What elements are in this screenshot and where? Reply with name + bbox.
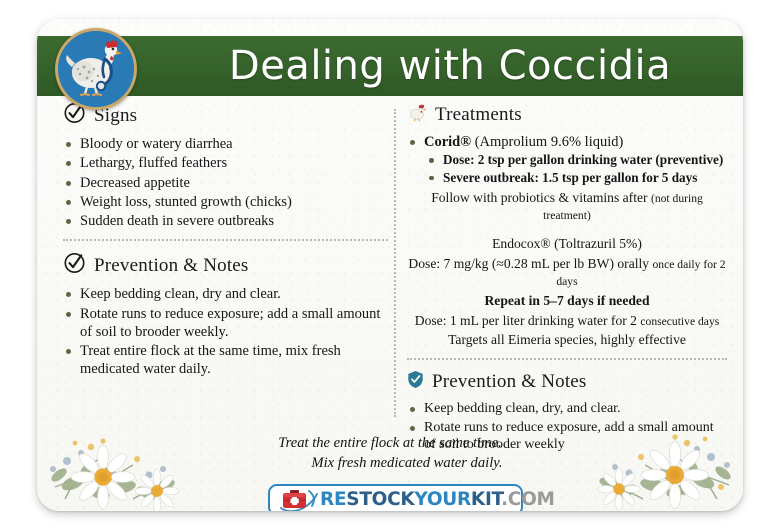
- right-column: Treatments Corid® (Amprolium 9.6% liquid…: [407, 101, 727, 455]
- left-prevention-heading: Prevention & Notes: [63, 251, 388, 279]
- list-item: Treat entire flock at the same time, mix…: [63, 342, 388, 379]
- circled-check-icon: [63, 251, 86, 279]
- treatments-heading: Treatments: [407, 101, 727, 127]
- list-item: Keep bedding clean, dry and clear.: [63, 285, 388, 303]
- first-aid-kit-icon: [279, 487, 319, 511]
- endocox-dose2-small: consecutive days: [640, 315, 719, 328]
- list-item: Decreased appetite: [63, 174, 388, 192]
- list-item: Lethargy, fluffed feathers: [63, 154, 388, 172]
- logo-part-com: .COM: [501, 489, 555, 510]
- restockyourkit-logo[interactable]: RESTOCKYOURKIT.COM: [268, 484, 523, 511]
- right-prevention-title: Prevention & Notes: [432, 372, 587, 391]
- left-column: Signs Bloody or watery diarrhea Lethargy…: [63, 101, 388, 380]
- logo-part-stock: STOCK: [346, 489, 414, 510]
- treatments-list: Corid® (Amprolium 9.6% liquid): [407, 133, 727, 151]
- endocox-targets-line: Targets all Eimeria species, highly effe…: [407, 331, 727, 349]
- poster-stage: Dealing with Coccidia: [0, 0, 780, 529]
- page-title: Dealing with Coccidia: [109, 46, 671, 86]
- list-item: Sudden death in severe outbreaks: [63, 212, 388, 230]
- treatments-title: Treatments: [435, 105, 522, 124]
- right-prevention-heading: Prevention & Notes: [407, 370, 727, 394]
- column-divider: [394, 109, 396, 417]
- left-section-divider: [63, 239, 388, 241]
- shield-check-icon: [407, 370, 424, 394]
- endocox-dose2-line: Dose: 1 mL per liter drinking water for …: [407, 312, 727, 330]
- corid-dose-list: Dose: 2 tsp per gallon drinking water (p…: [426, 152, 727, 186]
- endocox-dose2-main: Dose: 1 mL per liter drinking water for …: [415, 313, 641, 328]
- follow-up-line: Follow with probiotics & vitamins after …: [407, 189, 727, 224]
- endocox-dose-main: Dose: 7 mg/kg (≈0.28 mL per lb BW) orall…: [408, 256, 652, 271]
- chicken-with-stethoscope-icon: [55, 28, 137, 110]
- logo-part-re: RE: [320, 489, 346, 510]
- footer-note-line-2: Mix fresh medicated water daily.: [37, 453, 743, 473]
- endocox-title: Endocox® (Toltrazuril 5%): [407, 235, 727, 253]
- endocox-repeat-line: Repeat in 5–7 days if needed: [407, 292, 727, 310]
- header-banner: Dealing with Coccidia: [37, 36, 743, 96]
- signs-list: Bloody or watery diarrhea Lethargy, fluf…: [63, 135, 388, 230]
- info-card: Dealing with Coccidia: [37, 19, 743, 511]
- list-item: Rotate runs to reduce exposure; add a sm…: [63, 305, 388, 342]
- list-item: Weight loss, stunted growth (chicks): [63, 193, 388, 211]
- logo-part-your: YOUR: [414, 489, 471, 510]
- list-item-corid: Corid® (Amprolium 9.6% liquid): [407, 133, 727, 151]
- left-prevention-list: Keep bedding clean, dry and clear. Rotat…: [63, 285, 388, 378]
- content-columns: Signs Bloody or watery diarrhea Lethargy…: [37, 101, 743, 431]
- right-section-divider: [407, 358, 727, 360]
- left-prevention-title: Prevention & Notes: [94, 256, 249, 275]
- footer-note: Treat the entire flock at the same time.…: [37, 433, 743, 473]
- corid-label: Corid®: [424, 134, 471, 150]
- list-item: Severe outbreak: 1.5 tsp per gallon for …: [426, 170, 727, 187]
- logo-wordmark: RESTOCKYOURKIT.COM: [320, 491, 555, 510]
- follow-up-main: Follow with probiotics & vitamins after: [431, 190, 651, 205]
- footer-note-line-1: Treat the entire flock at the same time.: [37, 433, 743, 453]
- list-item: Dose: 2 tsp per gallon drinking water (p…: [426, 152, 727, 169]
- list-item: Bloody or watery diarrhea: [63, 135, 388, 153]
- corid-detail: (Amprolium 9.6% liquid): [471, 134, 623, 150]
- hen-icon: [407, 101, 427, 127]
- list-item: Keep bedding clean, dry, and clear.: [407, 400, 727, 418]
- logo-part-kit: KIT: [471, 489, 501, 510]
- endocox-dose-line: Dose: 7 mg/kg (≈0.28 mL per lb BW) orall…: [407, 255, 727, 290]
